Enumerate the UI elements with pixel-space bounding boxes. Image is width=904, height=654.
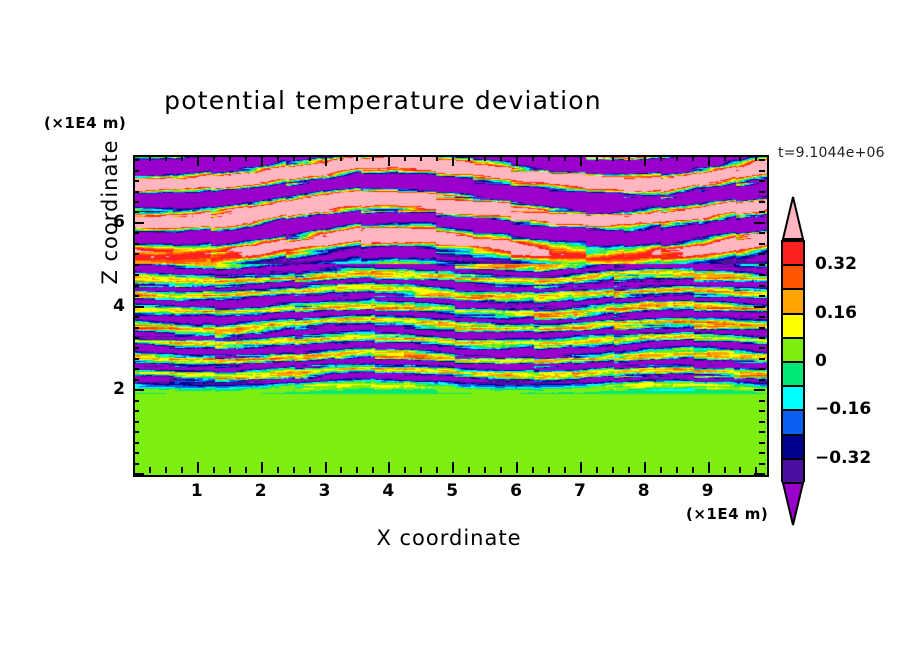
axis-tick bbox=[133, 285, 139, 287]
axis-tick bbox=[213, 467, 215, 473]
colorbar-tick-label: 0.32 bbox=[815, 254, 857, 274]
axis-tick bbox=[754, 473, 765, 475]
x-tick-label: 8 bbox=[638, 481, 650, 501]
axis-tick bbox=[340, 467, 342, 473]
colorbar-over-arrow-icon bbox=[781, 196, 805, 240]
axis-tick bbox=[133, 337, 139, 339]
colorbar-under-arrow-icon bbox=[781, 482, 805, 526]
axis-tick bbox=[356, 155, 358, 161]
axis-tick bbox=[133, 358, 139, 360]
axis-tick bbox=[660, 155, 662, 161]
axis-tick bbox=[708, 155, 710, 166]
axis-tick bbox=[548, 155, 550, 161]
axis-tick bbox=[213, 155, 215, 161]
axis-tick bbox=[133, 201, 139, 203]
x-tick-label: 1 bbox=[191, 481, 203, 501]
axis-tick bbox=[724, 155, 726, 161]
axis-tick bbox=[580, 155, 582, 166]
axis-tick bbox=[759, 316, 765, 318]
y-axis-title: Z coordinate bbox=[98, 97, 122, 327]
axis-tick bbox=[261, 462, 263, 473]
axis-tick bbox=[133, 473, 144, 475]
axis-tick bbox=[372, 467, 374, 473]
axis-tick bbox=[754, 389, 765, 391]
axis-tick bbox=[277, 155, 279, 161]
axis-tick bbox=[372, 155, 374, 161]
axis-tick bbox=[759, 159, 765, 161]
y-tick-label: 2 bbox=[99, 379, 125, 399]
axis-tick bbox=[596, 155, 598, 161]
colorbar-band bbox=[783, 339, 803, 363]
axis-tick bbox=[133, 463, 139, 465]
axis-tick bbox=[708, 462, 710, 473]
axis-tick bbox=[133, 306, 144, 308]
axis-tick bbox=[759, 201, 765, 203]
axis-tick bbox=[484, 155, 486, 161]
axis-tick bbox=[133, 452, 139, 454]
x-tick-label: 2 bbox=[255, 481, 267, 501]
axis-tick bbox=[133, 389, 144, 391]
axis-tick bbox=[759, 191, 765, 193]
x-tick-label: 7 bbox=[574, 481, 586, 501]
axis-tick bbox=[759, 431, 765, 433]
axis-tick bbox=[759, 463, 765, 465]
colorbar-tick-label: 0 bbox=[815, 351, 827, 371]
axis-tick bbox=[755, 155, 757, 161]
axis-tick bbox=[452, 462, 454, 473]
colorbar-band bbox=[783, 315, 803, 339]
axis-tick bbox=[133, 410, 139, 412]
axis-tick bbox=[532, 467, 534, 473]
axis-tick bbox=[759, 442, 765, 444]
axis-tick bbox=[754, 222, 765, 224]
axis-tick bbox=[739, 467, 741, 473]
axis-tick bbox=[759, 274, 765, 276]
axis-tick bbox=[133, 274, 139, 276]
axis-tick bbox=[356, 467, 358, 473]
axis-tick bbox=[436, 155, 438, 161]
colorbar-tick-label: 0.16 bbox=[815, 303, 857, 323]
axis-tick bbox=[245, 467, 247, 473]
axis-tick bbox=[133, 159, 139, 161]
axis-tick bbox=[133, 347, 139, 349]
axis-tick bbox=[759, 452, 765, 454]
axis-tick bbox=[754, 306, 765, 308]
axis-tick bbox=[133, 253, 139, 255]
axis-tick bbox=[548, 467, 550, 473]
axis-tick bbox=[759, 400, 765, 402]
axis-tick bbox=[468, 155, 470, 161]
axis-tick bbox=[436, 467, 438, 473]
axis-tick bbox=[612, 467, 614, 473]
colorbar-band bbox=[783, 290, 803, 314]
axis-tick bbox=[759, 211, 765, 213]
axis-tick bbox=[580, 462, 582, 473]
axis-tick bbox=[759, 347, 765, 349]
axis-tick bbox=[133, 421, 139, 423]
axis-tick bbox=[759, 285, 765, 287]
axis-tick bbox=[277, 467, 279, 473]
axis-tick bbox=[676, 155, 678, 161]
axis-tick bbox=[133, 264, 139, 266]
axis-tick bbox=[564, 155, 566, 161]
axis-tick bbox=[149, 155, 151, 161]
axis-tick bbox=[133, 180, 139, 182]
colorbar[interactable] bbox=[781, 240, 805, 482]
axis-tick bbox=[500, 467, 502, 473]
colorbar-band bbox=[783, 266, 803, 290]
axis-tick bbox=[692, 467, 694, 473]
axis-tick bbox=[759, 264, 765, 266]
x-tick-label: 4 bbox=[382, 481, 394, 501]
axis-tick bbox=[133, 316, 139, 318]
x-axis-title: X coordinate bbox=[133, 526, 765, 550]
axis-tick bbox=[388, 462, 390, 473]
axis-tick bbox=[759, 379, 765, 381]
axis-tick bbox=[532, 155, 534, 161]
axis-tick bbox=[644, 462, 646, 473]
contour-plot-area[interactable] bbox=[133, 155, 769, 477]
axis-tick bbox=[309, 467, 311, 473]
axis-tick bbox=[628, 155, 630, 161]
axis-tick bbox=[759, 358, 765, 360]
axis-tick bbox=[420, 155, 422, 161]
x-tick-label: 5 bbox=[446, 481, 458, 501]
axis-tick bbox=[484, 467, 486, 473]
axis-tick bbox=[759, 368, 765, 370]
axis-tick bbox=[759, 410, 765, 412]
axis-tick bbox=[739, 155, 741, 161]
axis-tick bbox=[181, 467, 183, 473]
x-tick-label: 3 bbox=[319, 481, 331, 501]
axis-tick bbox=[759, 327, 765, 329]
axis-tick bbox=[660, 467, 662, 473]
axis-tick bbox=[759, 337, 765, 339]
axis-tick bbox=[229, 467, 231, 473]
axis-tick bbox=[759, 295, 765, 297]
axis-tick bbox=[133, 211, 139, 213]
x-tick-label: 9 bbox=[702, 481, 714, 501]
axis-tick bbox=[133, 400, 139, 402]
axis-tick bbox=[612, 155, 614, 161]
axis-tick bbox=[133, 191, 139, 193]
axis-tick bbox=[759, 253, 765, 255]
axis-tick bbox=[759, 421, 765, 423]
axis-tick bbox=[325, 462, 327, 473]
axis-tick bbox=[133, 431, 139, 433]
contour-field-canvas bbox=[135, 157, 767, 475]
axis-tick bbox=[388, 155, 390, 166]
axis-tick bbox=[133, 327, 139, 329]
colorbar-band bbox=[783, 460, 803, 484]
colorbar-band bbox=[783, 387, 803, 411]
axis-tick bbox=[133, 368, 139, 370]
axis-tick bbox=[181, 155, 183, 161]
colorbar-band bbox=[783, 436, 803, 460]
axis-tick bbox=[452, 155, 454, 166]
axis-tick bbox=[516, 462, 518, 473]
axis-tick bbox=[133, 170, 139, 172]
axis-tick bbox=[229, 155, 231, 161]
axis-tick bbox=[325, 155, 327, 166]
axis-tick bbox=[404, 155, 406, 161]
axis-tick bbox=[759, 180, 765, 182]
colorbar-tick-label: −0.16 bbox=[815, 399, 871, 419]
axis-tick bbox=[261, 155, 263, 166]
axis-tick bbox=[420, 467, 422, 473]
axis-tick bbox=[133, 232, 139, 234]
axis-tick bbox=[245, 155, 247, 161]
axis-tick bbox=[340, 155, 342, 161]
axis-tick bbox=[293, 467, 295, 473]
axis-tick bbox=[133, 222, 144, 224]
axis-tick bbox=[133, 243, 139, 245]
axis-tick bbox=[759, 232, 765, 234]
axis-tick bbox=[759, 243, 765, 245]
axis-tick bbox=[628, 467, 630, 473]
axis-tick bbox=[724, 467, 726, 473]
axis-tick bbox=[309, 155, 311, 161]
x-tick-label: 6 bbox=[510, 481, 522, 501]
axis-tick bbox=[133, 379, 139, 381]
colorbar-band bbox=[783, 363, 803, 387]
colorbar-band bbox=[783, 411, 803, 435]
axis-tick bbox=[197, 155, 199, 166]
axis-tick bbox=[516, 155, 518, 166]
x-axis-unit-label: (×1E4 m) bbox=[686, 505, 768, 523]
axis-tick bbox=[564, 467, 566, 473]
axis-tick bbox=[293, 155, 295, 161]
colorbar-tick-label: −0.32 bbox=[815, 448, 871, 468]
time-stamp-label: t=9.1044e+06 bbox=[778, 145, 885, 161]
axis-tick bbox=[468, 467, 470, 473]
axis-tick bbox=[165, 467, 167, 473]
axis-tick bbox=[644, 155, 646, 166]
axis-tick bbox=[759, 170, 765, 172]
axis-tick bbox=[149, 467, 151, 473]
axis-tick bbox=[133, 442, 139, 444]
axis-tick bbox=[500, 155, 502, 161]
axis-tick bbox=[596, 467, 598, 473]
colorbar-band bbox=[783, 242, 803, 266]
axis-tick bbox=[404, 467, 406, 473]
axis-tick bbox=[692, 155, 694, 161]
axis-tick bbox=[197, 462, 199, 473]
axis-tick bbox=[133, 295, 139, 297]
axis-tick bbox=[676, 467, 678, 473]
axis-tick bbox=[165, 155, 167, 161]
